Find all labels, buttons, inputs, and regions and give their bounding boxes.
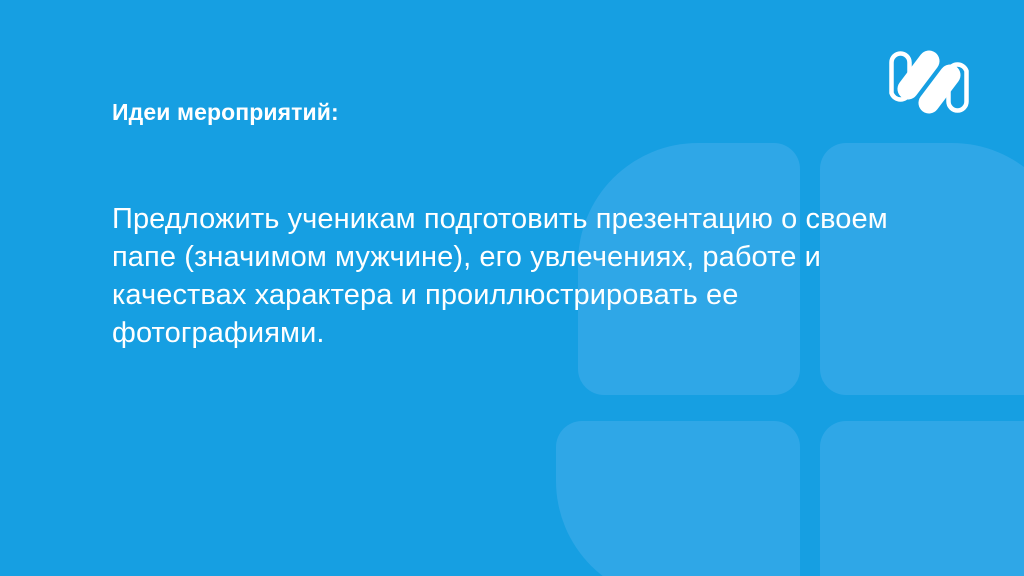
slide-heading: Идеи мероприятий: [112, 99, 339, 127]
presentation-slide: Идеи мероприятий: Предложить ученикам по… [0, 0, 1024, 576]
slide-body-text: Предложить ученикам подготовить презента… [112, 200, 912, 352]
slide-content: Идеи мероприятий: Предложить ученикам по… [112, 0, 912, 576]
